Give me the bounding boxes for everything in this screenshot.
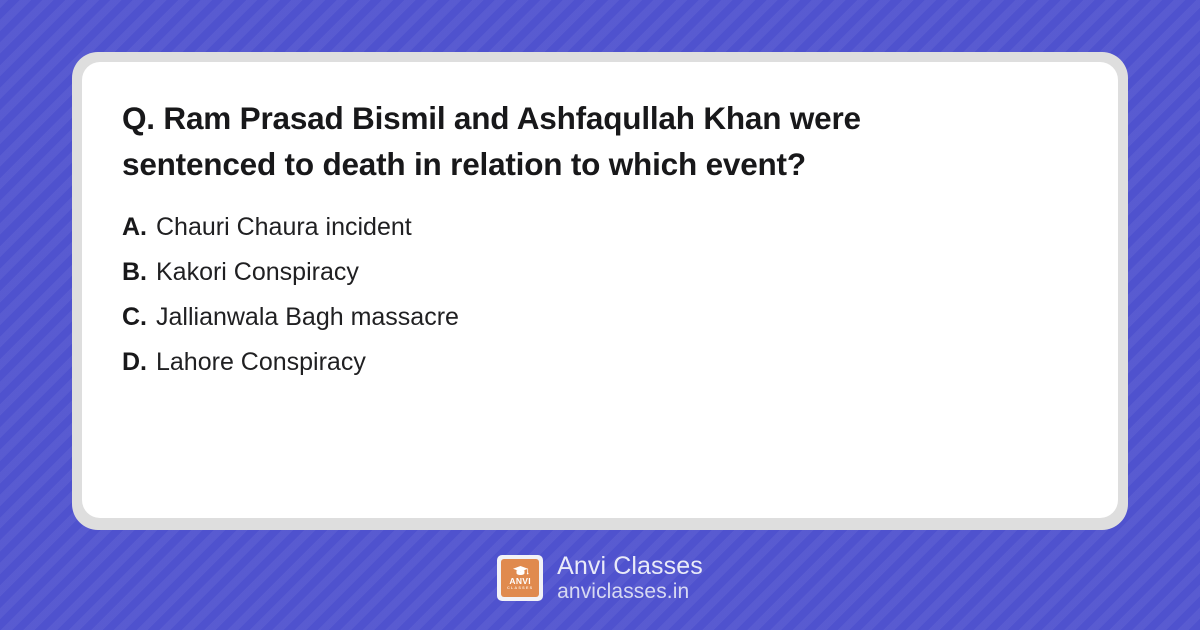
option-c-text: Jallianwala Bagh massacre [156,295,459,340]
option-a-letter: A. [122,205,147,250]
brand-logo-badge: ANVI CLASSES [501,559,539,597]
brand-footer: ANVI CLASSES Anvi Classes anviclasses.in [0,546,1200,610]
brand-logo-name: ANVI [509,577,531,586]
brand-logo-subtitle: CLASSES [507,587,533,591]
option-b[interactable]: B. Kakori Conspiracy [122,250,1078,295]
brand-name: Anvi Classes [557,552,703,580]
brand-url[interactable]: anviclasses.in [557,580,703,604]
question-text: Q. Ram Prasad Bismil and Ashfaqullah Kha… [122,96,1002,187]
options-list: A. Chauri Chaura incident B. Kakori Cons… [122,205,1078,385]
brand-logo: ANVI CLASSES [497,555,543,601]
option-d[interactable]: D. Lahore Conspiracy [122,340,1078,385]
quiz-slide: Q. Ram Prasad Bismil and Ashfaqullah Kha… [0,0,1200,630]
option-a[interactable]: A. Chauri Chaura incident [122,205,1078,250]
option-d-text: Lahore Conspiracy [156,340,366,385]
brand-text-block: Anvi Classes anviclasses.in [557,552,703,604]
option-d-letter: D. [122,340,147,385]
option-b-text: Kakori Conspiracy [156,250,359,295]
option-b-letter: B. [122,250,147,295]
graduation-cap-icon [512,565,529,576]
question-card: Q. Ram Prasad Bismil and Ashfaqullah Kha… [82,62,1118,518]
question-card-frame: Q. Ram Prasad Bismil and Ashfaqullah Kha… [72,52,1128,530]
option-c[interactable]: C. Jallianwala Bagh massacre [122,295,1078,340]
option-c-letter: C. [122,295,147,340]
option-a-text: Chauri Chaura incident [156,205,412,250]
